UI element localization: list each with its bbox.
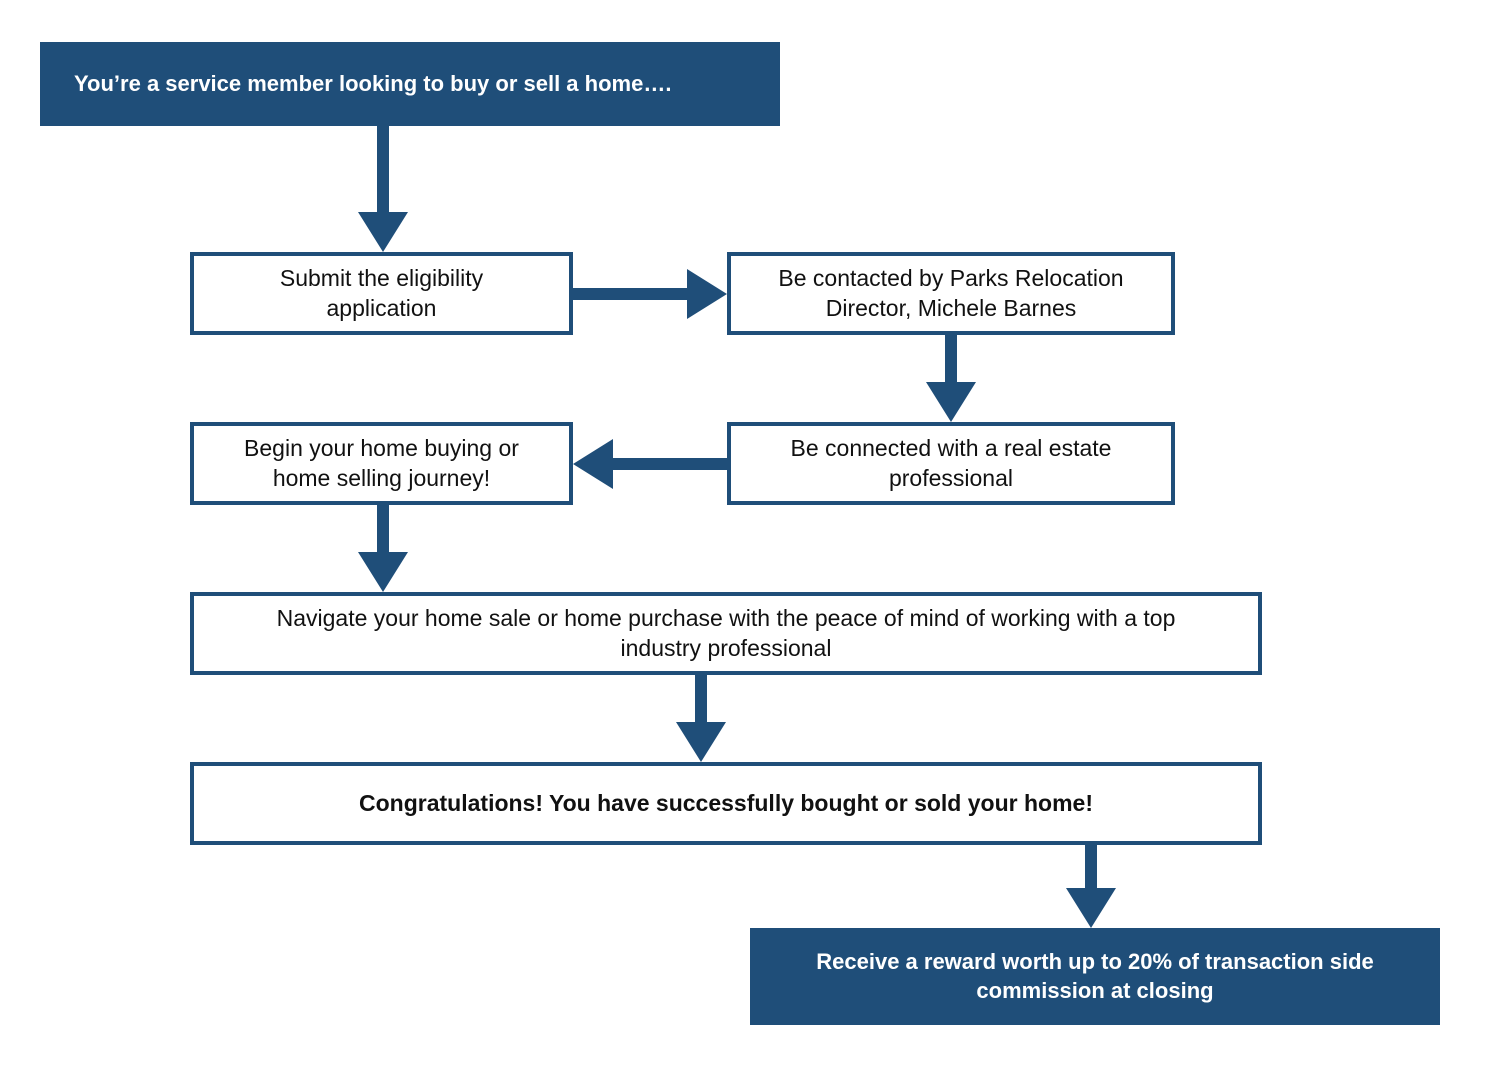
- flow-node-submit-application: Submit the eligibility application: [190, 252, 573, 335]
- flowchart-canvas: You’re a service member looking to buy o…: [0, 0, 1510, 1084]
- flow-arrow-navigate-to-congrats: [675, 675, 727, 762]
- flow-node-label: Navigate your home sale or home purchase…: [263, 604, 1190, 664]
- arrow-icon: [675, 675, 727, 762]
- arrow-icon: [357, 505, 409, 592]
- arrow-icon: [573, 268, 727, 320]
- flow-arrow-contacted-to-connected: [925, 335, 977, 422]
- flow-node-connected-with-professional: Be connected with a real estate professi…: [727, 422, 1175, 505]
- flow-node-congratulations: Congratulations! You have successfully b…: [190, 762, 1262, 845]
- flow-node-label: Submit the eligibility application: [266, 264, 497, 324]
- flow-node-contacted-by-director: Be contacted by Parks Relocation Directo…: [727, 252, 1175, 335]
- flow-arrow-congrats-to-reward: [1065, 845, 1117, 928]
- flow-node-begin-journey: Begin your home buying or home selling j…: [190, 422, 573, 505]
- flow-arrow-begin-to-navigate: [357, 505, 409, 592]
- flow-node-label: You’re a service member looking to buy o…: [40, 70, 685, 99]
- flow-node-label: Receive a reward worth up to 20% of tran…: [802, 948, 1388, 1005]
- flow-node-reward-banner: Receive a reward worth up to 20% of tran…: [750, 928, 1440, 1025]
- arrow-icon: [1065, 845, 1117, 928]
- flow-node-label: Be connected with a real estate professi…: [777, 434, 1126, 494]
- flow-arrow-start-to-submit: [357, 126, 409, 252]
- flow-arrow-submit-to-contacted: [573, 268, 727, 320]
- flow-node-label: Begin your home buying or home selling j…: [230, 434, 533, 494]
- flow-node-label: Be contacted by Parks Relocation Directo…: [764, 264, 1137, 324]
- arrow-icon: [925, 335, 977, 422]
- flow-node-navigate-sale: Navigate your home sale or home purchase…: [190, 592, 1262, 675]
- arrow-icon: [573, 438, 727, 490]
- flow-arrow-connected-to-begin: [573, 438, 727, 490]
- flow-node-start-banner: You’re a service member looking to buy o…: [40, 42, 780, 126]
- arrow-icon: [357, 126, 409, 252]
- flow-node-label: Congratulations! You have successfully b…: [345, 789, 1107, 819]
